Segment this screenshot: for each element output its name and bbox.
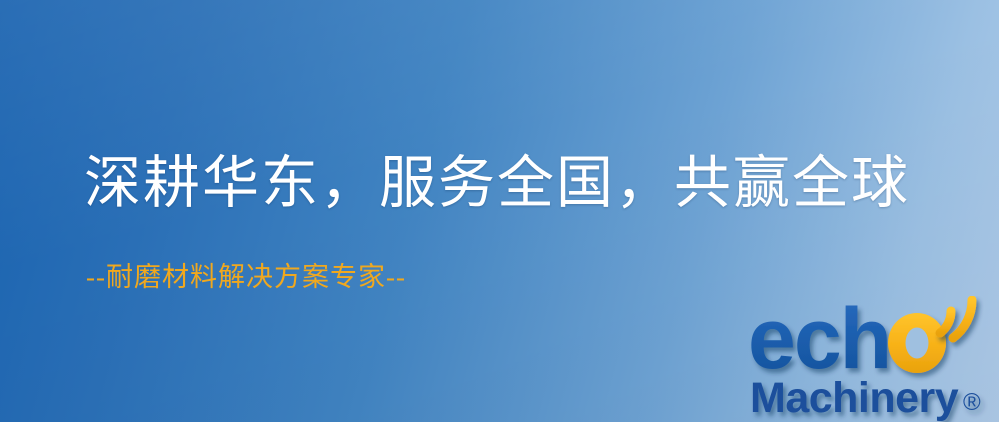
promo-banner: 深耕华东，服务全国，共赢全球 --耐磨材料解决方案专家-- [0, 0, 999, 422]
wifi-arcs-icon [940, 300, 972, 338]
page-subtitle: --耐磨材料解决方案专家-- [86, 264, 406, 291]
company-logo[interactable]: ech Machinery ® [748, 296, 999, 422]
logo-letter-o-accent [888, 313, 946, 373]
svg-text:Machinery: Machinery [750, 374, 959, 422]
registered-trademark-icon: ® [963, 389, 981, 416]
page-title: 深耕华东，服务全国，共赢全球 [84, 155, 910, 212]
logo-tagline: Machinery ® [750, 374, 981, 422]
